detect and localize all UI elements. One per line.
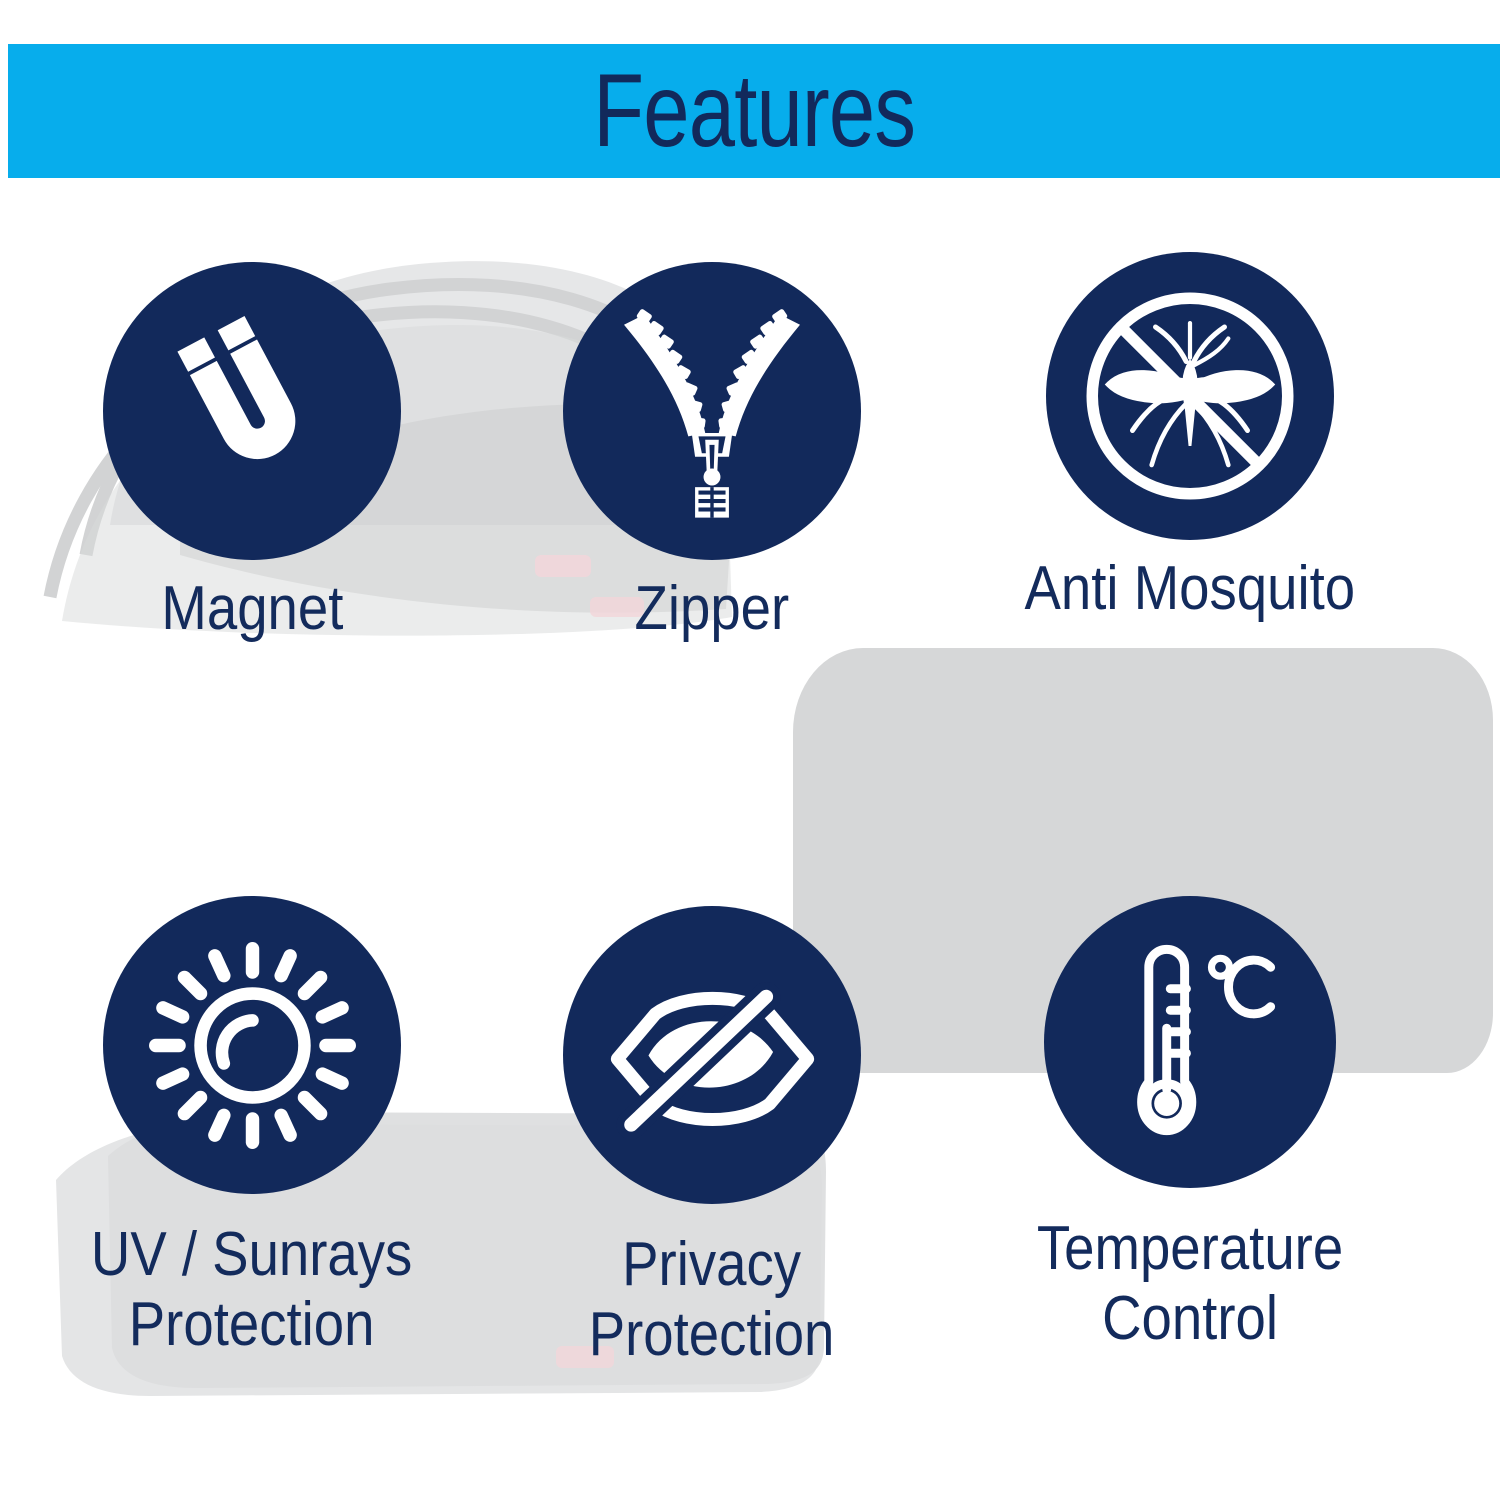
feature-label: Zipper	[635, 574, 790, 644]
feature-label: Anti Mosquito	[1025, 554, 1356, 624]
feature-item-magnet[interactable]: Magnet	[32, 262, 472, 644]
feature-item-uv-protection[interactable]: UV / Sunrays Protection	[32, 896, 472, 1360]
feature-item-temperature-control[interactable]: Temperature Control	[970, 896, 1410, 1354]
sun-icon	[145, 938, 360, 1153]
feature-label: Temperature Control	[1037, 1214, 1343, 1354]
feature-label: UV / Sunrays Protection	[91, 1220, 412, 1360]
feature-label: Privacy Protection	[589, 1230, 835, 1370]
feature-item-privacy-protection[interactable]: Privacy Protection	[492, 906, 932, 1370]
eye-off-icon	[600, 963, 825, 1148]
thermometer-celsius-icon	[1090, 935, 1290, 1150]
magnet-icon-badge	[103, 262, 401, 560]
magnet-icon	[157, 316, 347, 506]
zipper-icon	[607, 301, 817, 521]
feature-label: Magnet	[161, 574, 343, 644]
no-mosquito-icon-badge	[1046, 252, 1334, 540]
header-band: Features	[8, 44, 1500, 178]
sun-icon-badge	[103, 896, 401, 1194]
feature-item-anti-mosquito[interactable]: Anti Mosquito	[970, 252, 1410, 624]
no-mosquito-icon	[1075, 281, 1305, 511]
zipper-icon-badge	[563, 262, 861, 560]
page-title: Features	[593, 59, 915, 163]
thermometer-celsius-icon-badge	[1044, 896, 1336, 1188]
feature-item-zipper[interactable]: Zipper	[492, 262, 932, 644]
eye-off-icon-badge	[563, 906, 861, 1204]
features-grid: Magnet	[0, 196, 1500, 1500]
